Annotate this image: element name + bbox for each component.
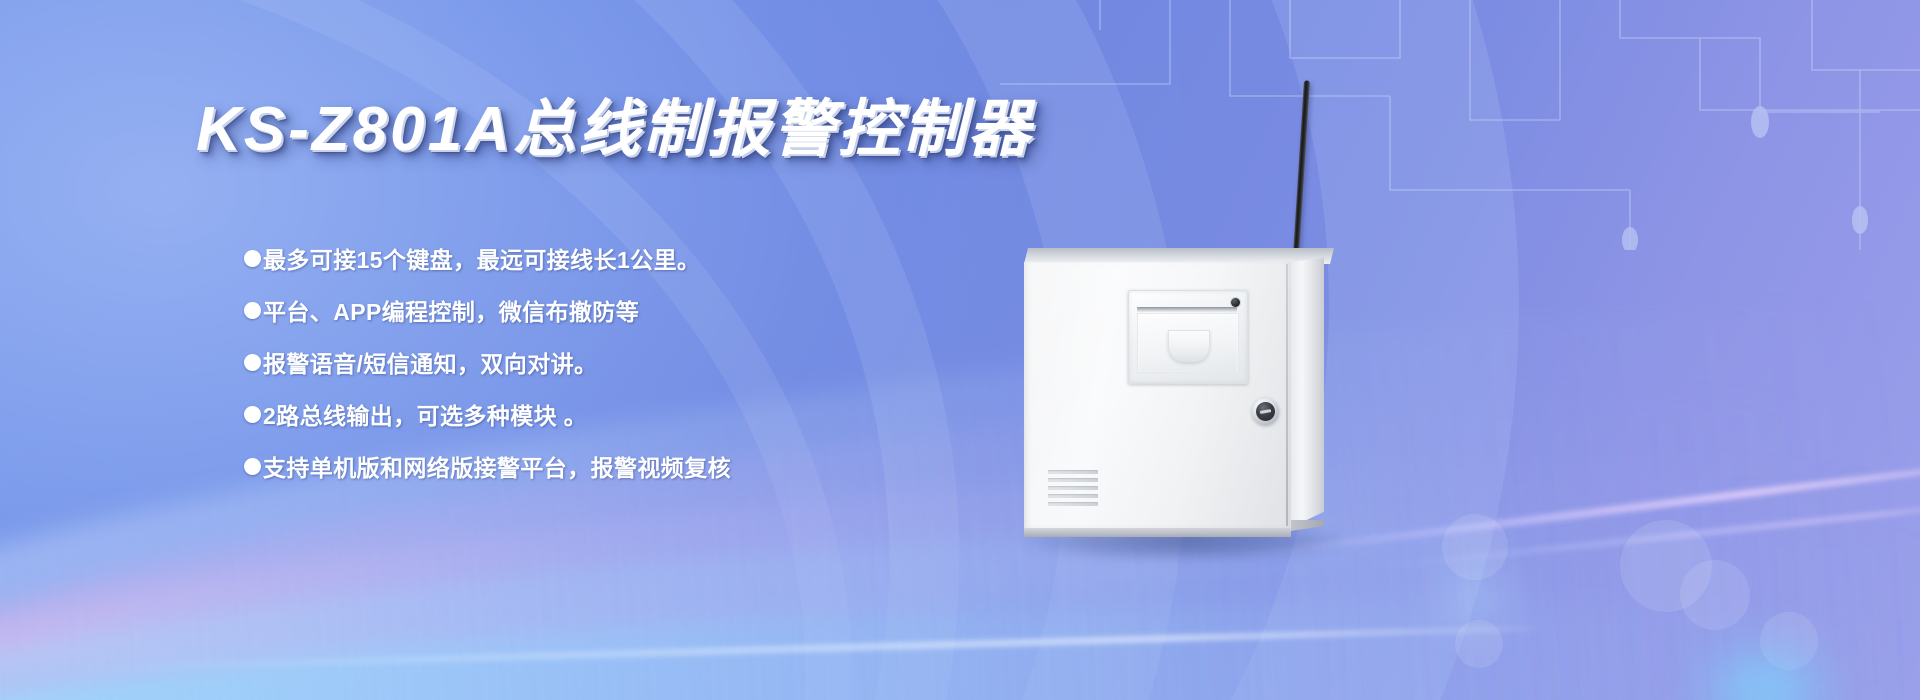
list-item: 2路总线输出，可选多种模块 。 <box>244 392 1004 436</box>
product-image <box>1010 80 1430 640</box>
list-item: 报警语音/短信通知，双向对讲。 <box>244 340 1004 384</box>
feature-list: 最多可接15个键盘，最远可接线长1公里。 平台、APP编程控制，微信布撤防等 报… <box>244 236 1004 496</box>
background-soft-glow <box>1432 560 1522 630</box>
background-bokeh-4 <box>1442 514 1508 580</box>
panel-slot <box>1137 307 1237 312</box>
product-banner: KS-Z801A总线制报警控制器 最多可接15个键盘，最远可接线长1公里。 平台… <box>0 0 1920 700</box>
key-lock-slot <box>1260 409 1271 414</box>
list-item: 平台、APP编程控制，微信布撤防等 <box>244 288 1004 332</box>
background-bokeh-5 <box>1455 620 1503 668</box>
feature-text: 最多可接15个键盘，最远可接线长1公里。 <box>263 241 700 275</box>
panel-door <box>1137 313 1239 373</box>
list-item: 最多可接15个键盘，最远可接线长1公里。 <box>244 236 1004 280</box>
status-led <box>1231 298 1240 307</box>
page-title: KS-Z801A总线制报警控制器 <box>196 78 1033 168</box>
feature-text: 报警语音/短信通知，双向对讲。 <box>263 345 597 379</box>
ventilation-slots <box>1048 470 1098 510</box>
bullet-dot-icon <box>244 406 261 423</box>
feature-text: 2路总线输出，可选多种模块 。 <box>263 397 587 431</box>
background-bokeh-3 <box>1760 612 1818 670</box>
background-ribbon-3 <box>0 475 1920 700</box>
recessed-keypad-panel <box>1128 290 1248 384</box>
feature-text: 支持单机版和网络版接警平台，报警视频复核 <box>263 449 731 483</box>
enclosure-bottom-edge <box>1024 528 1291 537</box>
enclosure-door-seam <box>1286 264 1288 526</box>
list-item: 支持单机版和网络版接警平台，报警视频复核 <box>244 444 1004 488</box>
panel-handle <box>1168 330 1210 362</box>
vent-slot <box>1048 470 1098 474</box>
bullet-dot-icon <box>244 458 261 475</box>
feature-text: 平台、APP编程控制，微信布撤防等 <box>263 293 639 327</box>
background-cyan-glow <box>1690 636 1840 700</box>
vent-slot <box>1048 502 1098 506</box>
bullet-dot-icon <box>244 302 261 319</box>
background-bokeh-1 <box>1620 520 1712 612</box>
bullet-dot-icon <box>244 250 261 267</box>
enclosure-side-face <box>1290 258 1324 528</box>
background-bokeh-2 <box>1680 560 1750 630</box>
key-lock-core <box>1256 402 1275 421</box>
vent-slot <box>1048 494 1098 498</box>
background-ribbon-4 <box>0 568 1920 700</box>
vent-slot <box>1048 486 1098 490</box>
key-lock <box>1252 398 1279 425</box>
vent-slot <box>1048 478 1098 482</box>
bullet-dot-icon <box>244 354 261 371</box>
